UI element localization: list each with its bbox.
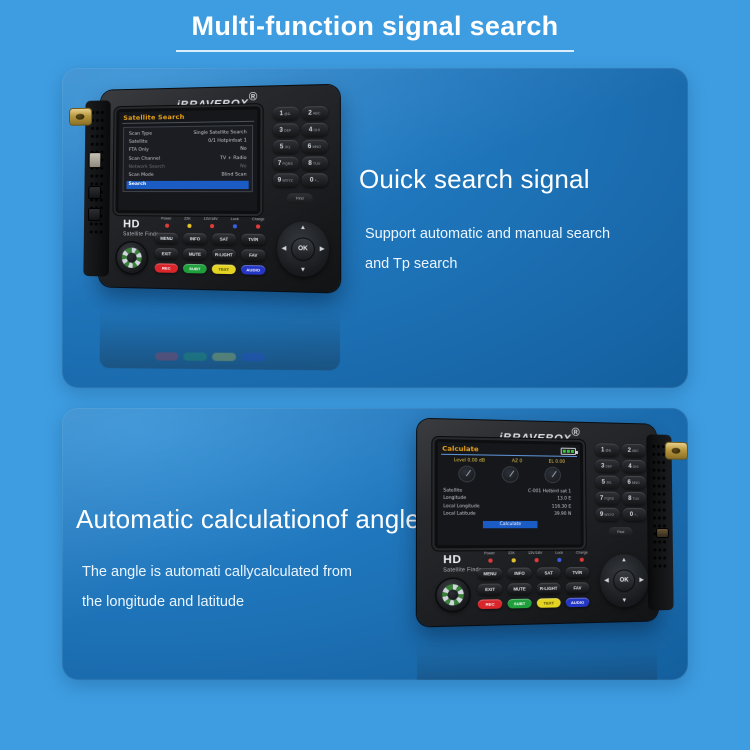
setting-row[interactable]: Scan Mode Blind Scan	[124, 171, 252, 180]
satellite-finder-device: iBRAVEBOX® Satellite Search Scan Type Si…	[99, 85, 340, 293]
text-button[interactable]: TEXT	[537, 598, 561, 608]
led-lock	[557, 558, 561, 562]
sat-button[interactable]: SAT	[537, 567, 561, 579]
led-indicator-block: Power 22K 13V/18V Lock Charge	[484, 551, 588, 563]
led-label-lock: Lock	[231, 217, 239, 221]
search-menu-item-selected[interactable]: Search	[126, 181, 248, 190]
subt-button[interactable]: SUBT	[508, 599, 532, 609]
dpad-right-icon[interactable]: ▶	[320, 246, 325, 252]
page-title: Multi-function signal search	[192, 11, 559, 42]
function-button-row-1: MENU INFO SAT TV/R	[155, 233, 267, 246]
dpad-left-icon[interactable]: ◀	[604, 578, 609, 584]
label-longitude: Longitude	[443, 495, 505, 503]
f-connector-icon	[666, 443, 687, 459]
value-local-longitude: 116.30 E	[505, 503, 571, 511]
ok-button[interactable]: OK	[292, 238, 314, 259]
tvr-button[interactable]: TV/R	[566, 567, 589, 579]
brand-trademark: ®	[571, 427, 580, 439]
dc-port-1	[88, 186, 101, 199]
column-header-el: EL 0.00	[549, 460, 565, 465]
dpad-control[interactable]: ▲ ▼ ◀ ▶ OK	[277, 221, 329, 277]
device-photo-quick-search: iBRAVEBOX® Satellite Search Scan Type Si…	[82, 76, 362, 376]
dpad-right-icon[interactable]: ▶	[639, 577, 644, 583]
compass-dial	[122, 247, 142, 268]
compass-icon	[117, 242, 147, 273]
satellite-finder-device: iBRAVEBOX® Calculate Level 0.00 dB AZ 0 …	[417, 419, 658, 627]
led-label-power: Power	[161, 216, 171, 220]
function-button-row-1: MENU INFO SAT TV/R	[478, 567, 590, 580]
led-label-22k: 22K	[184, 217, 191, 221]
key-9[interactable]: 9WXYZ	[595, 508, 619, 521]
panel-one-body-line-1: Support automatic and manual search	[359, 219, 610, 249]
key-4[interactable]: 4GHI	[621, 460, 645, 473]
key-3[interactable]: 3DEF	[595, 459, 619, 472]
numeric-keypad[interactable]: 1@&. 2ABC 3DEF 4GHI 5JKL 6MNO 7PQRS 8TUV…	[593, 443, 647, 537]
feature-panel-angle-calculation: Automatic calculationof angle The angle …	[62, 408, 688, 680]
info-button[interactable]: INFO	[507, 567, 531, 579]
hdmi-port	[656, 528, 669, 538]
setting-row[interactable]: Scan Channel TV + Radio	[124, 154, 252, 163]
key-0[interactable]: 0+.,	[301, 173, 327, 187]
gauge-level-icon	[459, 467, 474, 482]
led-labels: Power 22K 13V/18V Lock Charge	[484, 551, 588, 556]
panel-one-heading: Ouick search signal	[359, 164, 610, 195]
panel-two-text: Automatic calculationof angle The angle …	[76, 504, 420, 617]
setting-value: Blind Scan	[221, 171, 246, 180]
column-header-level: Level 0.00 dB	[454, 458, 485, 464]
setting-value: No	[240, 163, 247, 172]
sat-button[interactable]: SAT	[212, 233, 236, 245]
color-button-row: REC SUBT TEXT AUDIO	[478, 597, 591, 609]
info-button[interactable]: INFO	[183, 233, 207, 245]
dpad-control[interactable]: ▲ ▼ ◀ ▶ OK	[600, 554, 648, 607]
device-photo-angle-calculation: iBRAVEBOX® Calculate Level 0.00 dB AZ 0 …	[407, 410, 687, 675]
column-header-az: AZ 0	[512, 459, 522, 464]
f-connector-icon	[70, 109, 91, 125]
mute-button[interactable]: MUTE	[183, 248, 207, 260]
label-local-latitude: Local Latitude	[443, 511, 505, 519]
key-7[interactable]: 7PQRS	[272, 157, 298, 171]
page-header: Multi-function signal search	[0, 0, 750, 62]
led-lock	[233, 224, 237, 228]
led-voltage	[210, 224, 214, 228]
function-button-grid[interactable]: MENU INFO SAT TV/R EXIT MUTE R-LIGHT FAV…	[155, 233, 267, 279]
device-reflection	[417, 620, 658, 680]
led-22k	[187, 224, 191, 228]
calculate-field-values: C-001 Hotbird sat 1 13.0 E 116.30 E 39.9…	[505, 488, 575, 519]
led-charge	[256, 224, 260, 228]
key-4[interactable]: 4GHI	[301, 123, 327, 137]
exit-button[interactable]: EXIT	[478, 583, 502, 595]
tvr-button[interactable]: TV/R	[241, 234, 265, 246]
led-label-voltage: 13V/18V	[204, 217, 218, 221]
led-label-lock: Lock	[555, 551, 563, 555]
setting-value: No	[240, 146, 247, 155]
led-voltage	[535, 558, 539, 562]
function-button-grid[interactable]: MENU INFO SAT TV/R EXIT MUTE R-LIGHT FAV…	[478, 567, 591, 614]
key-2[interactable]: 2ABC	[621, 444, 645, 457]
led-label-charge: Charge	[576, 551, 588, 555]
screen-settings-box: Scan Type Single Satellite Search Satell…	[122, 125, 253, 193]
hd-label: HD	[123, 218, 161, 231]
dpad-down-icon[interactable]: ▼	[621, 598, 627, 604]
key-1[interactable]: 1@&.	[594, 443, 618, 456]
rlight-button[interactable]: R-LIGHT	[537, 583, 561, 595]
setting-key: Scan Mode	[129, 172, 154, 180]
fav-button[interactable]: FAV	[241, 249, 265, 261]
function-button-row-2: EXIT MUTE R-LIGHT FAV	[478, 582, 590, 595]
usb-port	[89, 152, 102, 168]
panel-one-body-line-2: and Tp search	[359, 249, 610, 279]
led-label-power: Power	[484, 551, 495, 555]
led-dots	[161, 224, 264, 229]
feature-panel-quick-search: Ouick search signal Support automatic an…	[62, 68, 688, 388]
battery-icon	[561, 447, 576, 454]
gauge-row	[438, 463, 580, 488]
setting-key: Network Search	[129, 163, 165, 171]
dpad-down-icon[interactable]: ▼	[300, 267, 306, 273]
key-6[interactable]: 6MNO	[622, 476, 646, 489]
gauge-el-icon	[546, 468, 560, 482]
label-local-longitude: Local Longitude	[443, 503, 505, 511]
panel-two-heading: Automatic calculationof angle	[76, 504, 420, 535]
rec-button[interactable]: REC	[155, 263, 178, 273]
screen-title: Calculate	[442, 444, 478, 453]
lcd-bezel: Calculate Level 0.00 dB AZ 0 EL 0.00	[435, 439, 584, 548]
led-label-charge: Charge	[252, 217, 264, 221]
key-2[interactable]: 2ABC	[301, 106, 327, 120]
dpad-left-icon[interactable]: ◀	[281, 246, 286, 252]
menu-button[interactable]: MENU	[478, 568, 502, 580]
text-button[interactable]: TEXT	[212, 264, 236, 274]
key-5[interactable]: 5JKL	[595, 475, 619, 488]
exit-button[interactable]: EXIT	[155, 248, 178, 260]
panel-two-body-line-2: the longitude and latitude	[76, 587, 420, 617]
calculate-fields: Satellite Longitude Local Longitude Loca…	[438, 487, 581, 518]
search-label: Search	[128, 181, 146, 189]
dc-port-2	[88, 208, 101, 221]
setting-key: FTA Only	[129, 147, 149, 155]
device-reflection	[100, 286, 341, 371]
setting-key: Satellite	[129, 139, 148, 147]
audio-button[interactable]: AUDIO	[566, 598, 590, 608]
key-8[interactable]: 8TUV	[301, 156, 327, 170]
key-6[interactable]: 6MNO	[301, 140, 327, 154]
dpad-up-icon[interactable]: ▲	[621, 557, 627, 563]
find-key[interactable]: Find	[287, 193, 313, 204]
panel-two-body-line-1: The angle is automati callycalculated fr…	[76, 557, 420, 587]
lcd-bezel: Satellite Search Scan Type Single Satell…	[115, 106, 260, 214]
key-8[interactable]: 8TUV	[622, 492, 646, 505]
led-22k	[512, 558, 516, 562]
fav-button[interactable]: FAV	[566, 582, 590, 594]
audio-button[interactable]: AUDIO	[241, 265, 265, 275]
led-dots	[484, 558, 588, 563]
calculate-field-labels: Satellite Longitude Local Longitude Loca…	[443, 487, 505, 518]
dpad-up-icon[interactable]: ▲	[300, 225, 306, 231]
compass-icon	[437, 579, 470, 611]
reflection-color-buttons	[155, 352, 265, 361]
setting-key: Scan Type	[129, 131, 152, 140]
menu-button[interactable]: MENU	[155, 233, 178, 245]
key-3[interactable]: 3DEF	[273, 123, 299, 137]
setting-key: Scan Channel	[129, 155, 160, 163]
key-0[interactable]: 0+.,	[622, 508, 646, 521]
compass-dial	[442, 584, 464, 606]
hd-label: HD	[443, 553, 484, 566]
led-label-voltage: 13V/18V	[528, 551, 542, 555]
led-power	[488, 559, 492, 563]
led-label-22k: 22K	[508, 551, 515, 555]
subt-button[interactable]: SUBT	[183, 264, 207, 274]
brand-trademark: ®	[249, 91, 258, 104]
gauge-az-icon	[503, 467, 518, 482]
key-1[interactable]: 1@&.	[273, 107, 299, 121]
lcd-screen-calculate: Calculate Level 0.00 dB AZ 0 EL 0.00	[438, 442, 581, 545]
key-7[interactable]: 7PQRS	[595, 492, 619, 505]
panel-one-text: Ouick search signal Support automatic an…	[359, 164, 610, 279]
key-9[interactable]: 9WXYZ	[272, 173, 298, 187]
value-local-latitude: 39.90 N	[505, 511, 571, 519]
lcd-screen-satellite-search: Satellite Search Scan Type Single Satell…	[118, 109, 257, 210]
function-button-row-2: EXIT MUTE R-LIGHT FAV	[155, 248, 267, 261]
led-indicator-block: Power 22K 13V/18V Lock Charge	[161, 216, 264, 228]
header-underline	[176, 50, 574, 52]
rlight-button[interactable]: R-LIGHT	[212, 249, 236, 261]
numeric-keypad[interactable]: 1@&. 2ABC 3DEF 4GHI 5JKL 6MNO 7PQRS 8TUV…	[271, 106, 329, 204]
led-charge	[580, 558, 584, 562]
setting-value: TV + Radio	[220, 155, 247, 164]
led-labels: Power 22K 13V/18V Lock Charge	[161, 216, 264, 221]
find-key[interactable]: Find	[609, 527, 633, 537]
mute-button[interactable]: MUTE	[507, 583, 531, 595]
key-5[interactable]: 5JKL	[273, 140, 299, 154]
color-button-row: REC SUBT TEXT AUDIO	[155, 263, 267, 275]
vent-holes	[651, 442, 668, 572]
calculate-button[interactable]: Calculate	[483, 521, 538, 528]
rec-button[interactable]: REC	[478, 599, 503, 609]
led-power	[165, 224, 169, 228]
